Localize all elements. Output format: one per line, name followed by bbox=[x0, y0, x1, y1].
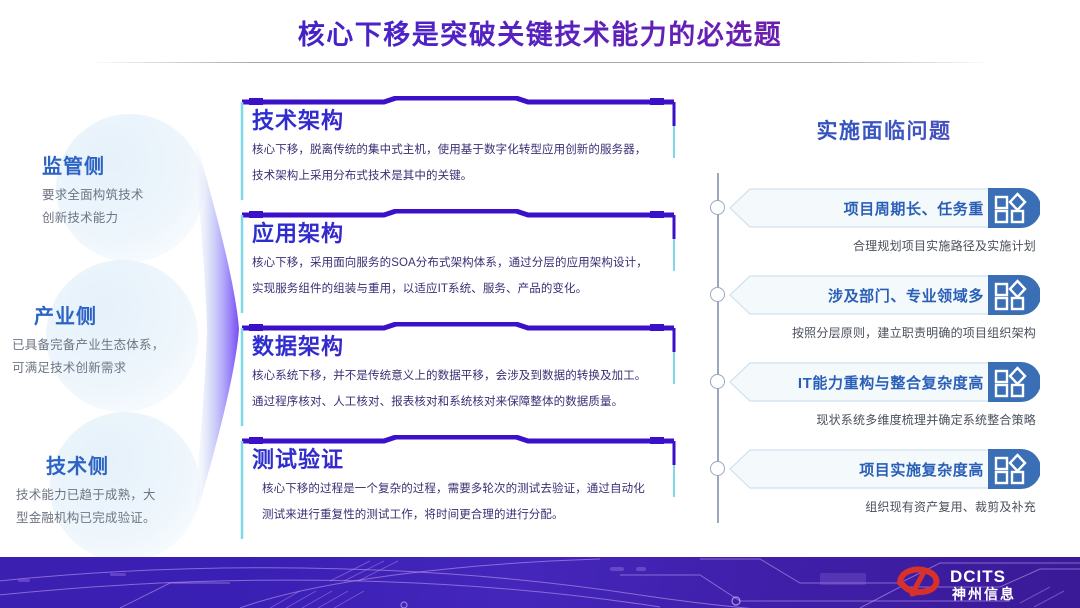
architecture-card-list: 技术架构 核心下移，脱离传统的集中式主机，使用基于数字化转型应用创新的服务器， … bbox=[236, 96, 680, 544]
issue-item-4-subtext: 组织现有资产复用、裁剪及补充 bbox=[728, 498, 1040, 515]
grid-shapes-icon bbox=[988, 188, 1040, 228]
card-data-architecture-line-1: 核心系统下移，并不是传统意义上的数据平移，会涉及到数据的转换及加工。 bbox=[252, 361, 680, 387]
issue-item-1-label: 项目周期长、任务重 bbox=[844, 198, 984, 219]
card-test-verification-line-2: 测试来进行重复性的测试工作，将时间更合理的进行分配。 bbox=[252, 500, 680, 526]
card-test-verification[interactable]: 测试验证 核心下移的过程是一个复杂的过程，需要多轮次的测试去验证，通过自动化 测… bbox=[236, 435, 680, 526]
card-test-verification-line-1: 核心下移的过程是一个复杂的过程，需要多轮次的测试去验证，通过自动化 bbox=[252, 474, 680, 500]
issue-item-4-label: 项目实施复杂度高 bbox=[859, 459, 984, 480]
card-tech-architecture-line-2: 技术架构上采用分布式技术是其中的关键。 bbox=[252, 161, 680, 187]
title-bar: 核心下移是突破关键技术能力的必选题 bbox=[0, 0, 1080, 70]
issue-item-2-subtext: 按照分层原则，建立职责明确的项目组织架构 bbox=[728, 324, 1040, 341]
timeline-node-1 bbox=[710, 200, 725, 215]
card-data-architecture-title: 数据架构 bbox=[252, 322, 680, 361]
issue-item-1-subtext: 合理规划项目实施路径及实施计划 bbox=[728, 237, 1040, 254]
slide-root: 核心下移是突破关键技术能力的必选题 监管侧 要求全面构筑技术 创新技术能力 产业… bbox=[0, 0, 1080, 608]
issue-item-3-pill[interactable]: IT能力重构与整合复杂度高 bbox=[728, 362, 1040, 402]
card-app-architecture-line-2: 实现服务组件的组装与重用，以适应IT系统、服务、产品的变化。 bbox=[252, 274, 680, 300]
card-app-architecture[interactable]: 应用架构 核心下移，采用面向服务的SOA分布式架构体系，通过分层的应用架构设计，… bbox=[236, 209, 680, 300]
issue-item-1-pill[interactable]: 项目周期长、任务重 bbox=[728, 188, 1040, 228]
issue-item-4-pill[interactable]: 项目实施复杂度高 bbox=[728, 449, 1040, 489]
card-data-architecture[interactable]: 数据架构 核心系统下移，并不是传统意义上的数据平移，会涉及到数据的转换及加工。 … bbox=[236, 322, 680, 413]
issue-item-3-label: IT能力重构与整合复杂度高 bbox=[798, 372, 984, 393]
issue-item-1[interactable]: 项目周期长、任务重 合理规划项目实施路径及实施计划 bbox=[728, 188, 1040, 254]
issue-item-2-pill[interactable]: 涉及部门、专业领域多 bbox=[728, 275, 1040, 315]
issue-item-2-label: 涉及部门、专业领域多 bbox=[828, 285, 984, 306]
issue-item-3-subtext: 现状系统多维度梳理并确定系统整合策略 bbox=[728, 411, 1040, 428]
grid-shapes-icon bbox=[988, 275, 1040, 315]
flow-arrow-icon bbox=[186, 128, 242, 530]
card-test-verification-title: 测试验证 bbox=[252, 435, 680, 474]
card-app-architecture-line-1: 核心下移，采用面向服务的SOA分布式架构体系，通过分层的应用架构设计， bbox=[252, 248, 680, 274]
logo-company-name: 神州信息 bbox=[952, 586, 1016, 602]
flow-arrow-decor bbox=[186, 128, 242, 530]
timeline-node-4 bbox=[710, 461, 725, 476]
card-tech-architecture-line-1: 核心下移，脱离传统的集中式主机，使用基于数字化转型应用创新的服务器， bbox=[252, 135, 680, 161]
issues-panel-heading: 实施面临问题 bbox=[700, 115, 1068, 145]
card-tech-architecture-title: 技术架构 bbox=[252, 96, 680, 135]
timeline-node-3 bbox=[710, 374, 725, 389]
timeline-node-2 bbox=[710, 287, 725, 302]
card-app-architecture-title: 应用架构 bbox=[252, 209, 680, 248]
grid-shapes-icon bbox=[988, 449, 1040, 489]
company-logo: DCITS 神州信息 bbox=[894, 563, 1066, 603]
issue-item-4[interactable]: 项目实施复杂度高 组织现有资产复用、裁剪及补充 bbox=[728, 449, 1040, 515]
card-tech-architecture[interactable]: 技术架构 核心下移，脱离传统的集中式主机，使用基于数字化转型应用创新的服务器， … bbox=[236, 96, 680, 187]
page-title: 核心下移是突破关键技术能力的必选题 bbox=[0, 13, 1080, 52]
grid-shapes-icon bbox=[988, 362, 1040, 402]
footer-band: DCITS 神州信息 bbox=[0, 557, 1080, 608]
logo-brand-text: DCITS bbox=[950, 567, 1006, 586]
card-data-architecture-line-2: 通过程序核对、人工核对、报表核对和系统核对来保障整体的数据质量。 bbox=[252, 387, 680, 413]
title-divider bbox=[88, 62, 992, 63]
issue-item-3[interactable]: IT能力重构与整合复杂度高 现状系统多维度梳理并确定系统整合策略 bbox=[728, 362, 1040, 428]
issue-item-2[interactable]: 涉及部门、专业领域多 按照分层原则，建立职责明确的项目组织架构 bbox=[728, 275, 1040, 341]
issues-panel: 实施面临问题 项目周期长、任务重 合理规划项目实施路径及实施计划 bbox=[700, 105, 1068, 535]
